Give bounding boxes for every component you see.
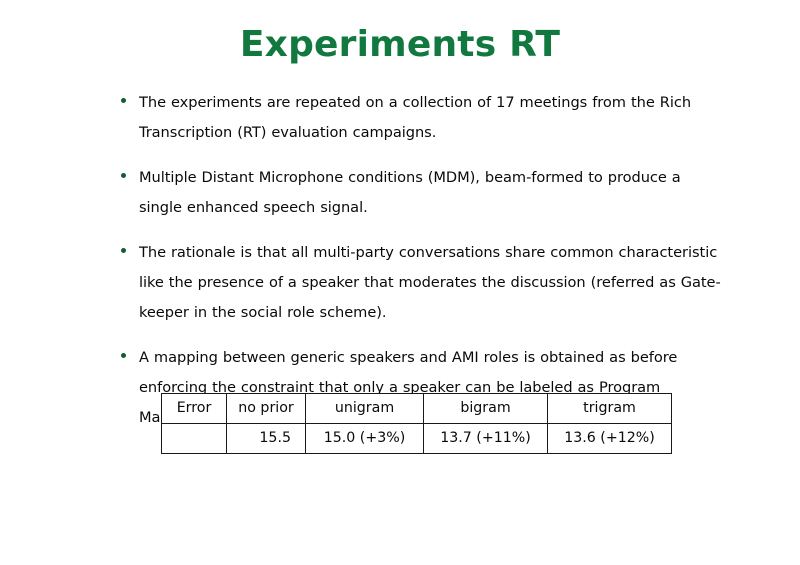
table-header: Error no prior unigram bigram trigram [162,394,672,424]
table-header-bigram: bigram [424,394,548,424]
page-title: Experiments RT [0,24,800,66]
bullet-list: The experiments are repeated on a collec… [0,88,800,433]
bullet-dot-icon [121,353,126,358]
results-table: Error no prior unigram bigram trigram 15… [161,393,672,454]
results-table-container: Error no prior unigram bigram trigram 15… [161,393,672,454]
list-item-text: The rationale is that all multi-party co… [139,238,728,328]
table-cell-row-label [162,424,227,454]
table-header-row: Error no prior unigram bigram trigram [162,394,672,424]
table-body: 15.5 15.0 (+3%) 13.7 (+11%) 13.6 (+12%) [162,424,672,454]
list-item: The rationale is that all multi-party co… [0,238,800,328]
table-cell-no-prior: 15.5 [227,424,306,454]
table-header-unigram: unigram [306,394,424,424]
table-cell-unigram: 15.0 (+3%) [306,424,424,454]
bullet-dot-icon [121,98,126,103]
table-cell-bigram: 13.7 (+11%) [424,424,548,454]
table-cell-trigram: 13.6 (+12%) [548,424,672,454]
list-item: The experiments are repeated on a collec… [0,88,800,148]
table-header-error: Error [162,394,227,424]
list-item-text: The experiments are repeated on a collec… [139,88,728,148]
table-header-no-prior: no prior [227,394,306,424]
presentation-slide: Experiments RT The experiments are repea… [0,0,800,565]
table-row: 15.5 15.0 (+3%) 13.7 (+11%) 13.6 (+12%) [162,424,672,454]
list-item: Multiple Distant Microphone conditions (… [0,163,800,223]
list-item-text: Multiple Distant Microphone conditions (… [139,163,728,223]
bullet-dot-icon [121,248,126,253]
bullet-dot-icon [121,173,126,178]
table-header-trigram: trigram [548,394,672,424]
